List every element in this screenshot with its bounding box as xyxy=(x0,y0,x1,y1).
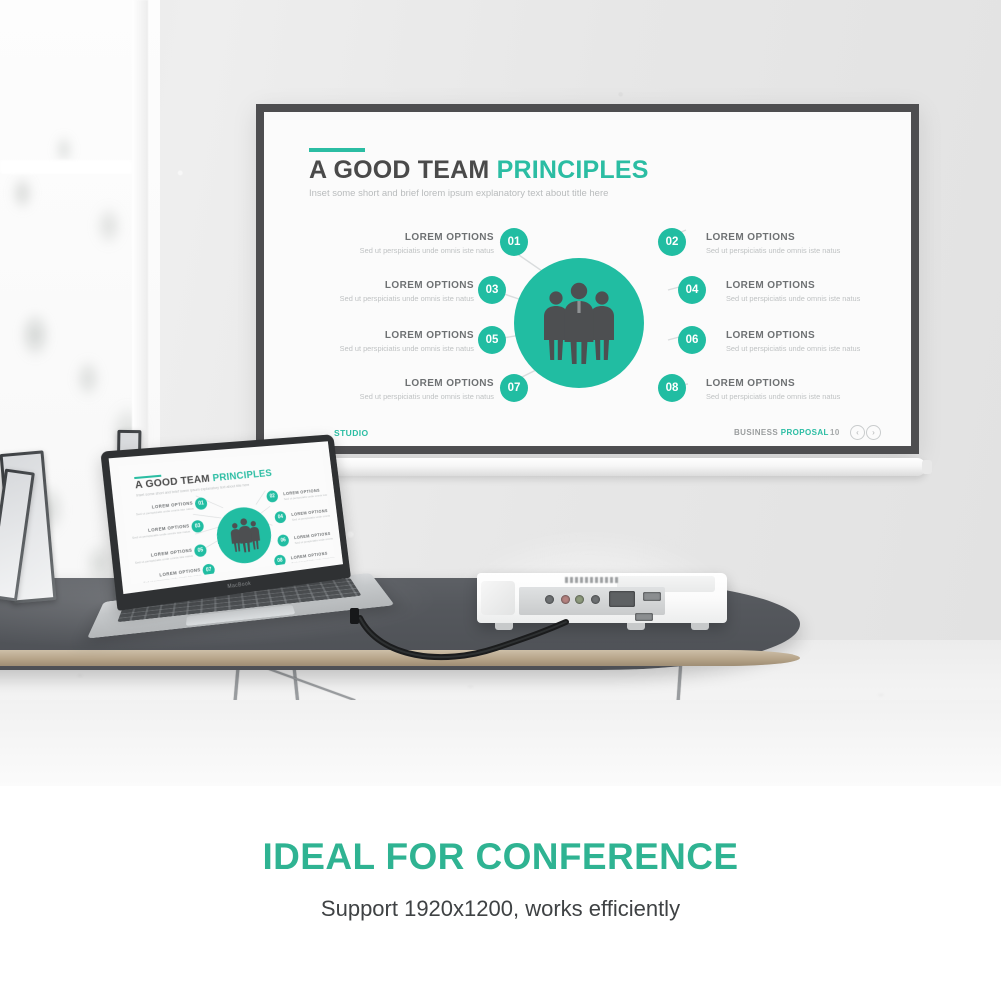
team-people-icon xyxy=(536,282,622,364)
rca-port-green xyxy=(575,595,584,604)
option-badge-07[interactable]: 07 xyxy=(202,563,215,577)
option-badge-06[interactable]: 06 xyxy=(277,534,290,547)
projection-screen: A GOOD TEAM PRINCIPLES Inset some short … xyxy=(256,104,919,454)
option-heading: LOREM OPTIONS xyxy=(304,330,474,341)
option-badge-08[interactable]: 08 xyxy=(658,374,686,402)
option-badge-03[interactable]: 03 xyxy=(478,276,506,304)
window-mullion xyxy=(0,160,132,174)
caption-title: IDEAL FOR CONFERENCE xyxy=(0,836,1001,878)
projector-brand-mark xyxy=(565,577,619,583)
laptop: A GOOD TEAM PRINCIPLES Inset some short … xyxy=(88,428,379,686)
hdmi-port xyxy=(643,592,661,601)
caption-subtitle: Support 1920x1200, works efficiently xyxy=(0,896,1001,922)
option-badge-05[interactable]: 05 xyxy=(194,544,207,558)
options-left-group: LOREM OPTIONS Sed ut perspiciatis unde o… xyxy=(118,449,322,466)
option-badge-02[interactable]: 02 xyxy=(658,228,686,256)
photo-scene: A GOOD TEAM PRINCIPLES Inset some short … xyxy=(0,0,1001,786)
slide-title-accent: PRINCIPLES xyxy=(497,156,649,184)
option-badge-01[interactable]: 01 xyxy=(194,497,207,510)
option-badge-03[interactable]: 03 xyxy=(191,520,204,533)
slide-canvas-large: A GOOD TEAM PRINCIPLES Inset some short … xyxy=(264,112,911,446)
projector-body xyxy=(477,573,727,623)
option-text: Sed ut perspiciatis unde omnis iste natu… xyxy=(284,392,494,401)
option-text: Sed ut perspiciatis unde omnis iste natu… xyxy=(264,294,474,303)
title-rule xyxy=(309,148,365,152)
slide-canvas-small: A GOOD TEAM PRINCIPLES Inset some short … xyxy=(118,449,335,584)
option-badge-01[interactable]: 01 xyxy=(500,228,528,256)
option-badge-02[interactable]: 02 xyxy=(266,490,279,503)
option-badge-04[interactable]: 04 xyxy=(274,511,287,524)
cable-connector xyxy=(350,608,359,624)
projector-foot xyxy=(627,623,645,630)
option-heading: LOREM OPTIONS xyxy=(706,378,795,389)
slide-title: A GOOD TEAM PRINCIPLES xyxy=(309,156,649,185)
option-badge-08[interactable]: 08 xyxy=(274,554,287,567)
slide-subtitle: Inset some short and brief lorem ipsum e… xyxy=(309,188,608,199)
rca-port-red xyxy=(561,595,570,604)
option-text: Sed ut perspiciatis unde omnis iste natu… xyxy=(264,344,474,353)
option-heading: LOREM OPTIONS xyxy=(304,280,474,291)
option-badge-07[interactable]: 07 xyxy=(500,374,528,402)
projector-port-panel xyxy=(519,587,665,615)
slide-title-accent: PRINCIPLES xyxy=(212,468,272,484)
vga-port xyxy=(609,591,635,607)
option-text: Sed ut perspiciatis unde omnis iste natu… xyxy=(706,392,840,401)
option-badge-05[interactable]: 05 xyxy=(478,326,506,354)
caption-band: IDEAL FOR CONFERENCE Support 1920x1200, … xyxy=(0,786,1001,1001)
slide-footer-brand: STUDIO xyxy=(144,583,160,585)
usb-port xyxy=(635,613,653,621)
slide-page-number: 10 xyxy=(830,428,840,437)
option-text: Sed ut perspiciatis unde omnis iste natu… xyxy=(706,246,840,255)
projector-foot xyxy=(691,623,709,630)
rca-port-black xyxy=(591,595,600,604)
option-badge-04[interactable]: 04 xyxy=(678,276,706,304)
option-text: Sed ut perspiciatis unde omnis iste natu… xyxy=(726,344,860,353)
projector-lens xyxy=(481,581,515,615)
option-heading: LOREM OPTIONS xyxy=(324,232,494,243)
option-heading: LOREM OPTIONS xyxy=(726,330,815,341)
slide-title-dark: A GOOD TEAM xyxy=(309,156,489,184)
product-marketing-image: A GOOD TEAM PRINCIPLES Inset some short … xyxy=(0,0,1001,1001)
footer-doc-gray: BUSINESS xyxy=(734,428,778,437)
projector-foot xyxy=(495,623,513,630)
slide-page-number: 10 xyxy=(319,561,323,565)
option-text: Sed ut perspiciatis unde omnis iste natu… xyxy=(284,246,494,255)
option-heading: LOREM OPTIONS xyxy=(726,280,815,291)
projector xyxy=(477,573,727,635)
chevron-right-icon[interactable]: › xyxy=(866,425,881,440)
floor xyxy=(0,700,1001,786)
footer-doc-accent: PROPOSAL xyxy=(781,428,829,437)
option-text: Sed ut perspiciatis unde omnis iste natu… xyxy=(726,294,860,303)
option-heading: LOREM OPTIONS xyxy=(706,232,795,243)
audio-port xyxy=(545,595,554,604)
slide-footer-doc-label: BUSINESS PROPOSAL xyxy=(734,428,829,437)
options-right-group: 02 LOREM OPTIONS Sed ut perspiciatis und… xyxy=(118,449,322,466)
team-people-icon xyxy=(226,515,265,555)
option-heading: LOREM OPTIONS xyxy=(324,378,494,389)
option-badge-06[interactable]: 06 xyxy=(678,326,706,354)
roller-end-right xyxy=(922,460,932,474)
chevron-left-icon[interactable]: ‹ xyxy=(850,425,865,440)
